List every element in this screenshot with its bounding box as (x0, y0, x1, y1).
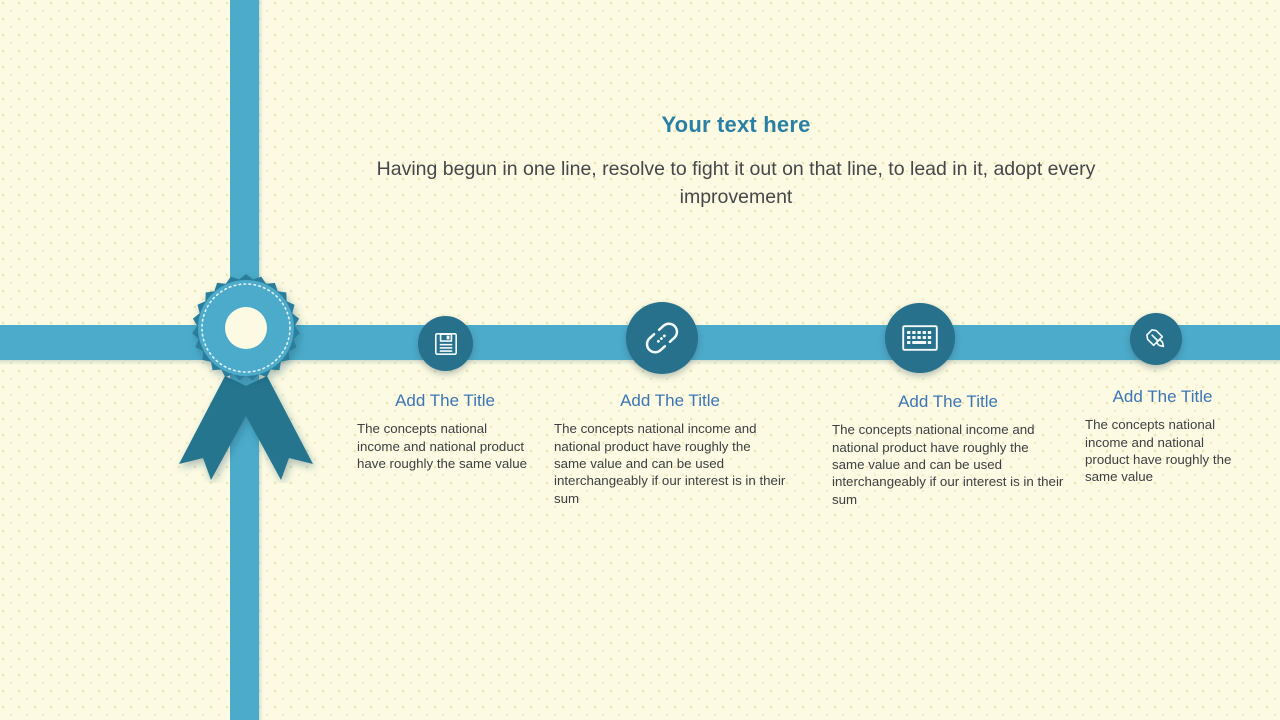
award-ribbon-rosette-icon (163, 268, 329, 483)
timeline-column-1: Add The Title The concepts national inco… (357, 391, 533, 472)
column-title: Add The Title (832, 392, 1064, 412)
column-title: Add The Title (1085, 387, 1240, 407)
timeline-node-2[interactable] (626, 302, 698, 374)
column-body: The concepts national income and nationa… (832, 421, 1064, 507)
page-subtitle: Having begun in one line, resolve to fig… (330, 156, 1142, 211)
column-body: The concepts national income and nationa… (554, 420, 786, 506)
column-title: Add The Title (554, 391, 786, 411)
timeline-node-3[interactable] (885, 303, 955, 373)
column-body: The concepts national income and nationa… (357, 420, 533, 472)
timeline-node-4[interactable] (1130, 313, 1182, 365)
header-block: Your text here Having begun in one line,… (330, 112, 1142, 212)
column-body: The concepts national income and nationa… (1085, 416, 1240, 485)
timeline-column-4: Add The Title The concepts national inco… (1085, 387, 1240, 486)
chain-link-icon (643, 319, 681, 357)
page-title: Your text here (330, 112, 1142, 138)
keyboard-icon (902, 324, 938, 352)
column-title: Add The Title (357, 391, 533, 411)
marker-pen-icon (1144, 327, 1169, 352)
floppy-disk-save-icon (433, 331, 459, 357)
slide-canvas: Your text here Having begun in one line,… (0, 0, 1280, 720)
timeline-column-3: Add The Title The concepts national inco… (832, 392, 1064, 508)
timeline-node-1[interactable] (418, 316, 473, 371)
timeline-column-2: Add The Title The concepts national inco… (554, 391, 786, 507)
